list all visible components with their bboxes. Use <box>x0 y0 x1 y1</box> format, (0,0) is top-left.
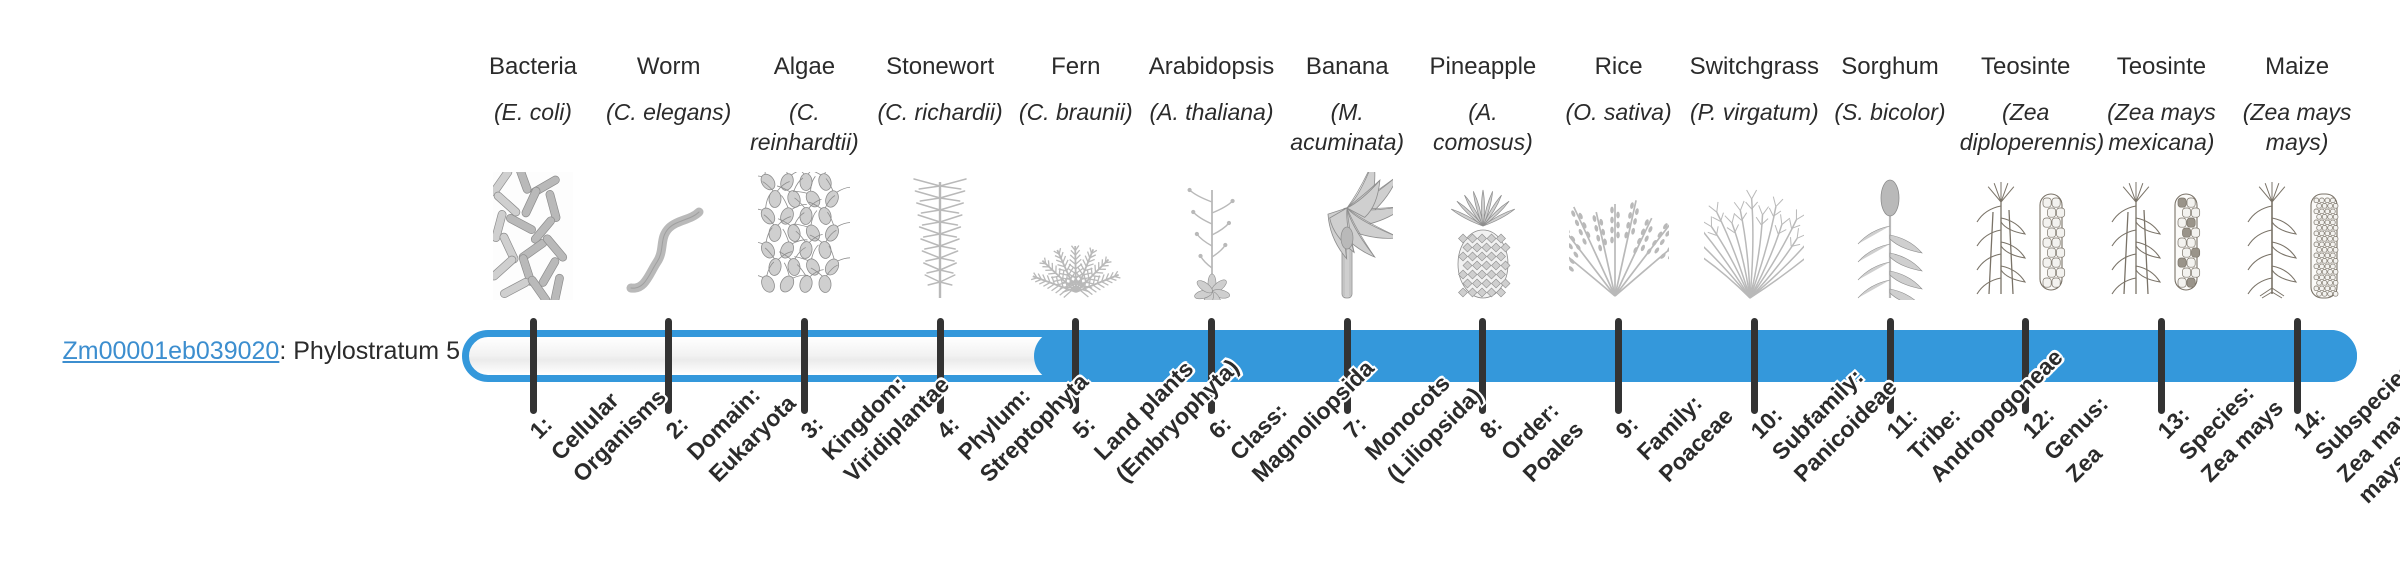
algae-illustration <box>738 168 870 300</box>
species-column-arabidopsis: Arabidopsis(A. thaliana) <box>1146 52 1278 128</box>
banana-illustration <box>1281 168 1413 300</box>
species-common-name: Stonewort <box>874 52 1006 82</box>
teosinte-diploperennis-illustration <box>1960 168 2092 300</box>
gene-phylostratum-value: Phylostratum 5 <box>293 337 460 365</box>
arabidopsis-illustration <box>1146 168 1278 300</box>
species-column-teosinte: Teosinte(Zea diploperennis) <box>1960 52 2092 158</box>
worm-illustration <box>603 168 735 300</box>
phylostratum-tick-14[interactable] <box>2294 318 2301 414</box>
species-latin-name: (Zea mays mays) <box>2231 98 2363 158</box>
species-latin-name: (A. thaliana) <box>1146 98 1278 128</box>
species-latin-name: (A. comosus) <box>1417 98 1549 158</box>
species-common-name: Banana <box>1281 52 1413 82</box>
species-latin-name: (S. bicolor) <box>1824 98 1956 128</box>
phylostratum-tick-9[interactable] <box>1615 318 1622 414</box>
species-column-switchgrass: Switchgrass(P. virgatum) <box>1688 52 1820 128</box>
species-column-bacteria: Bacteria(E. coli) <box>467 52 599 128</box>
species-latin-name: (C. elegans) <box>603 98 735 128</box>
phylostratum-tick-10[interactable] <box>1751 318 1758 414</box>
stonewort-illustration <box>874 168 1006 300</box>
phylostratum-tick-13[interactable] <box>2158 318 2165 414</box>
phylostratum-label-11[interactable]: 11: Tribe: Andropogoneae <box>1880 299 2069 488</box>
species-column-sorghum: Sorghum(S. bicolor) <box>1824 52 1956 128</box>
switchgrass-illustration <box>1688 168 1820 300</box>
species-latin-name: (M. acuminata) <box>1281 98 1413 158</box>
rice-illustration <box>1553 168 1685 300</box>
species-common-name: Fern <box>1010 52 1142 82</box>
species-common-name: Maize <box>2231 52 2363 82</box>
phylostratum-label-8[interactable]: 8: Order: Poales <box>1473 372 1590 489</box>
species-common-name: Pineapple <box>1417 52 1549 82</box>
species-latin-name: (Zea diploperennis) <box>1960 98 2092 158</box>
species-column-algae: Algae(C. reinhardtii) <box>738 52 870 158</box>
species-column-stonewort: Stonewort(C. richardii) <box>874 52 1006 128</box>
species-common-name: Bacteria <box>467 52 599 82</box>
fern-illustration <box>1010 168 1142 300</box>
pineapple-illustration <box>1417 168 1549 300</box>
species-common-name: Switchgrass <box>1688 52 1820 82</box>
gene-label-separator: : <box>279 337 293 365</box>
species-latin-name: (O. sativa) <box>1553 98 1685 128</box>
species-column-pineapple: Pineapple(A. comosus) <box>1417 52 1549 158</box>
phylostratigraphy-figure: Zm00001eb039020: Phylostratum 5 Bacteria… <box>0 0 2400 580</box>
species-latin-name: (P. virgatum) <box>1688 98 1820 128</box>
bacteria-illustration <box>467 168 599 300</box>
gene-phylostratum-label: Zm00001eb039020: Phylostratum 5 <box>40 336 460 366</box>
species-latin-name: (C. braunii) <box>1010 98 1142 128</box>
species-latin-name: (C. reinhardtii) <box>738 98 870 158</box>
species-column-teosinte: Teosinte(Zea mays mexicana) <box>2095 52 2227 158</box>
species-common-name: Worm <box>603 52 735 82</box>
species-column-fern: Fern(C. braunii) <box>1010 52 1142 128</box>
gene-id-link[interactable]: Zm00001eb039020 <box>62 337 279 365</box>
species-column-banana: Banana(M. acuminata) <box>1281 52 1413 158</box>
species-common-name: Arabidopsis <box>1146 52 1278 82</box>
phylostratum-tick-1[interactable] <box>530 318 537 414</box>
species-common-name: Sorghum <box>1824 52 1956 82</box>
species-common-name: Teosinte <box>2095 52 2227 82</box>
species-latin-name: (E. coli) <box>467 98 599 128</box>
maize-illustration <box>2231 168 2363 300</box>
species-common-name: Algae <box>738 52 870 82</box>
species-common-name: Rice <box>1553 52 1685 82</box>
species-common-name: Teosinte <box>1960 52 2092 82</box>
species-column-maize: Maize(Zea mays mays) <box>2231 52 2363 158</box>
species-latin-name: (Zea mays mexicana) <box>2095 98 2227 158</box>
species-latin-name: (C. richardii) <box>874 98 1006 128</box>
teosinte-mexicana-illustration <box>2095 168 2227 300</box>
species-column-rice: Rice(O. sativa) <box>1553 52 1685 128</box>
phylostratum-tick-3[interactable] <box>801 318 808 414</box>
species-column-worm: Worm(C. elegans) <box>603 52 735 128</box>
sorghum-illustration <box>1824 168 1956 300</box>
